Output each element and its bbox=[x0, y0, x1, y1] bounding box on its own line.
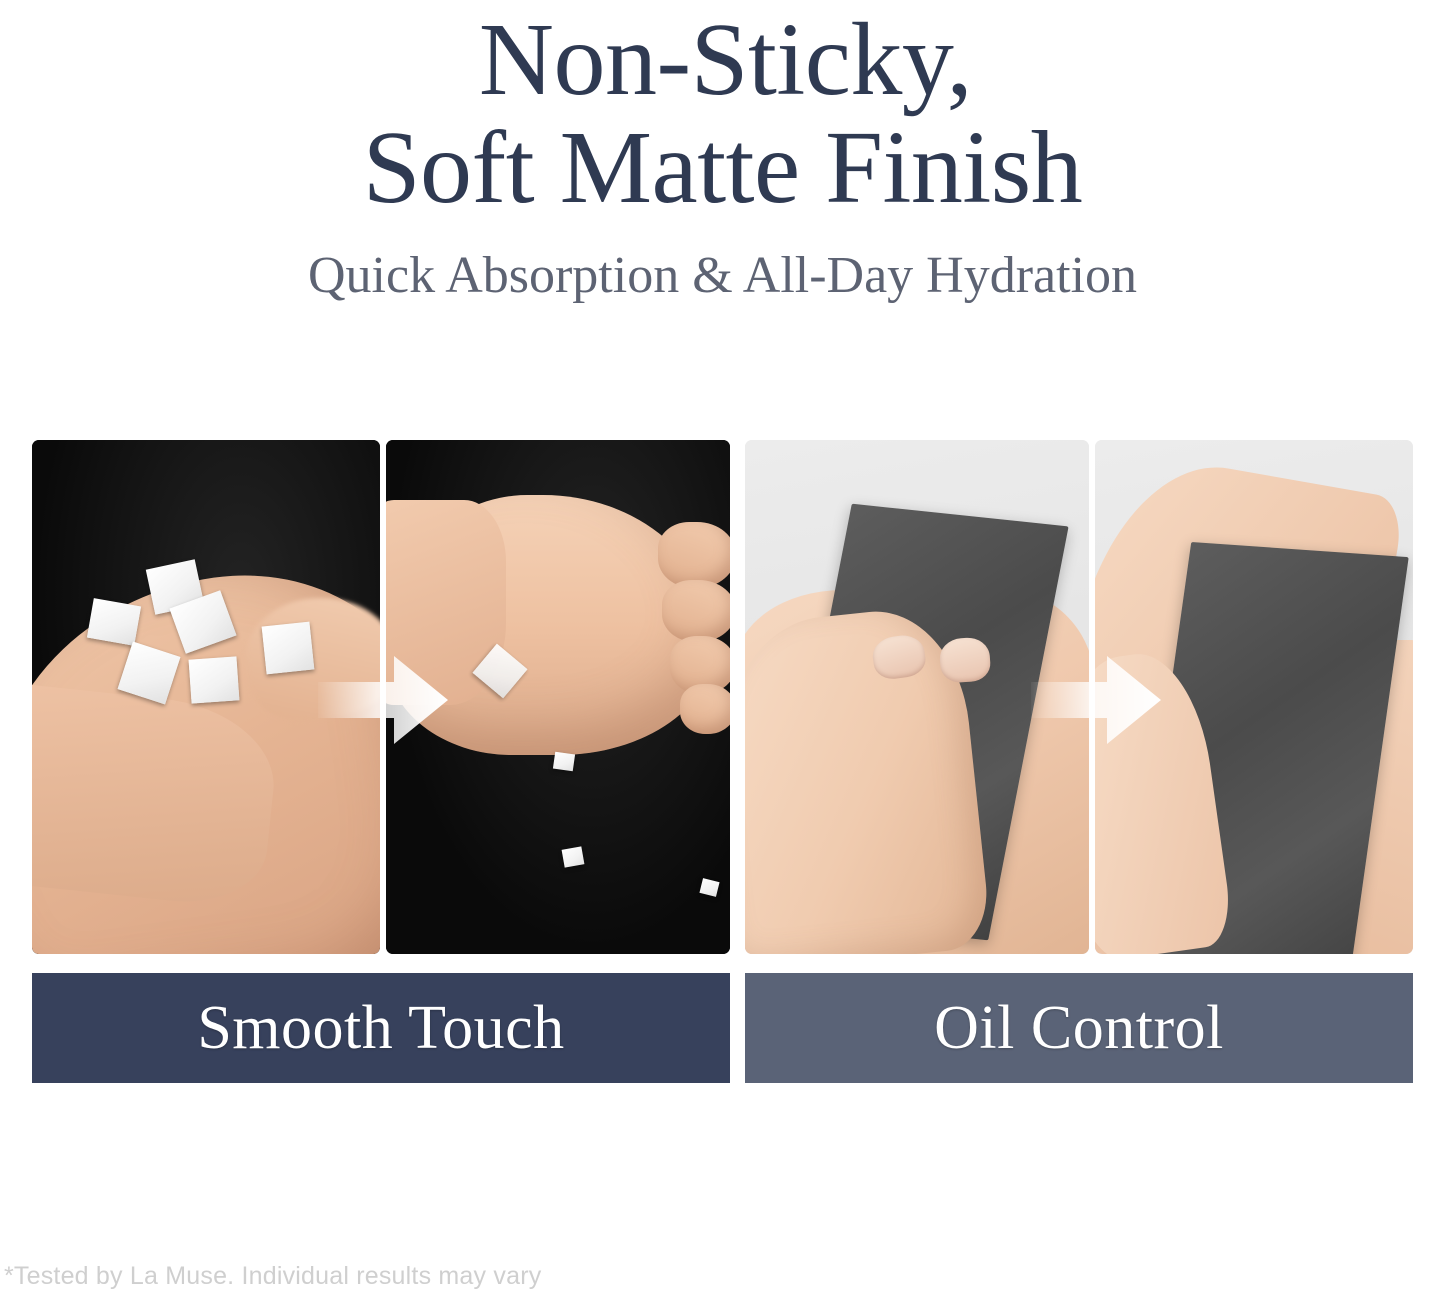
label-smooth-touch: Smooth Touch bbox=[32, 973, 730, 1083]
headline-line-1: Non-Sticky, bbox=[0, 6, 1445, 114]
group-oil-control: Oil Control bbox=[745, 440, 1413, 954]
label-oil-control: Oil Control bbox=[745, 973, 1413, 1083]
comparison-groups: Smooth Touch bbox=[0, 440, 1445, 1085]
panel-row-smooth-touch bbox=[32, 440, 730, 954]
cream-patch bbox=[87, 598, 141, 646]
label-text: Oil Control bbox=[934, 993, 1224, 1064]
falling-patch bbox=[562, 846, 585, 867]
promo-page: Non-Sticky, Soft Matte Finish Quick Abso… bbox=[0, 0, 1445, 1303]
page-subtitle: Quick Absorption & All-Day Hydration bbox=[0, 250, 1445, 302]
fingernail bbox=[939, 636, 992, 683]
finger-shape bbox=[680, 684, 730, 734]
finger-shape bbox=[658, 522, 730, 588]
panel-row-oil-control bbox=[745, 440, 1413, 954]
header: Non-Sticky, Soft Matte Finish Quick Abso… bbox=[0, 0, 1445, 302]
image-panel-blot-press bbox=[745, 440, 1089, 954]
cream-patch bbox=[262, 622, 315, 675]
page-title: Non-Sticky, Soft Matte Finish bbox=[0, 0, 1445, 222]
group-smooth-touch: Smooth Touch bbox=[32, 440, 730, 954]
image-panel-before-smooth bbox=[32, 440, 380, 954]
image-panel-blot-result bbox=[1095, 440, 1413, 954]
finger-shape bbox=[662, 580, 730, 642]
falling-patch bbox=[553, 752, 575, 772]
headline-line-2: Soft Matte Finish bbox=[0, 114, 1445, 222]
falling-patch bbox=[699, 878, 719, 897]
footnote-disclaimer: *Tested by La Muse. Individual results m… bbox=[4, 1262, 541, 1291]
label-text: Smooth Touch bbox=[197, 993, 564, 1064]
cream-patch bbox=[189, 656, 240, 703]
image-panel-after-smooth bbox=[386, 440, 730, 954]
